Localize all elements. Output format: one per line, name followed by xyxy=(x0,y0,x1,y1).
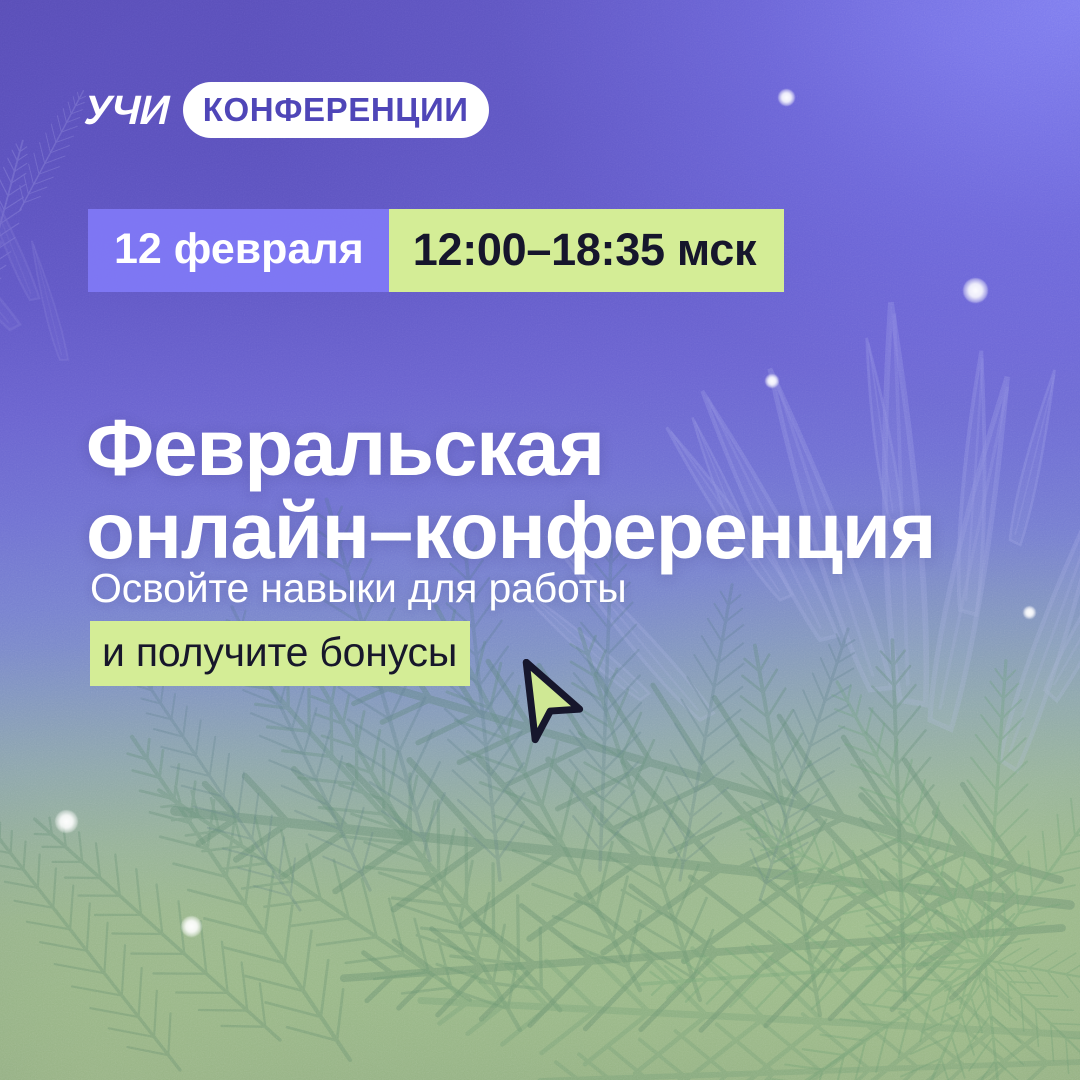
cursor-arrow-icon xyxy=(508,659,592,749)
event-time-badge: 12:00–18:35 мск xyxy=(389,209,784,292)
event-date-badge: 12 февраля xyxy=(88,209,389,292)
headline-line-2: онлайн–конференция xyxy=(86,489,935,572)
poster-content: УЧИ КОНФЕРЕНЦИИ 12 февраля 12:00–18:35 м… xyxy=(0,0,1080,1080)
subtitle-line-2-wrapper: и получите бонусы xyxy=(90,621,470,685)
brand-logo-word: УЧИ xyxy=(83,90,169,131)
brand-logo[interactable]: УЧИ КОНФЕРЕНЦИИ xyxy=(84,82,489,138)
brand-logo-pill: КОНФЕРЕНЦИИ xyxy=(183,82,489,138)
event-badges: 12 февраля 12:00–18:35 мск xyxy=(88,209,784,292)
subtitle-line-2-highlight: и получите бонусы xyxy=(90,621,470,685)
promo-poster: УЧИ КОНФЕРЕНЦИИ 12 февраля 12:00–18:35 м… xyxy=(0,0,1080,1080)
subtitle-line-1: Освойте навыки для работы xyxy=(90,564,627,612)
headline-line-1: Февральская xyxy=(86,406,935,489)
page-title: Февральская онлайн–конференция xyxy=(86,406,935,572)
